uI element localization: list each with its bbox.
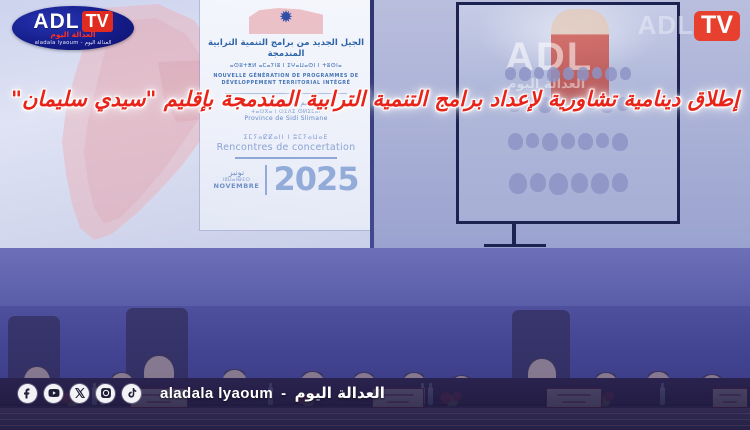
poster-date-separator: [265, 165, 267, 195]
logo-tv-badge: TV: [82, 11, 113, 32]
poster-province-french: Province de Sidi Slimane: [208, 115, 364, 122]
morocco-flag-icon: ✹: [249, 8, 323, 34]
logo-subtitle: aladala lyaoum - العدالة اليوم: [35, 40, 112, 46]
screen-foot: [484, 244, 546, 247]
poster-meeting-tifinagh: ⵉⵎⵢⴰⵇⵇⴰⵏⵏ ⵏ ⵓⵎⵢⴰⵡⴰⴹ: [208, 134, 364, 141]
banner-handle: aladala lyaoum - العدالة اليوم: [160, 384, 385, 402]
banner-handle-separator: -: [281, 385, 286, 402]
instagram-icon[interactable]: [96, 384, 115, 403]
corner-logo-adl-text: ADL: [638, 10, 694, 41]
facebook-icon[interactable]: [18, 384, 37, 403]
corner-logo-tv-badge: TV: [694, 11, 740, 41]
poster-meeting-french: Rencontres de concertation: [208, 142, 364, 153]
banner-handle-latin: aladala lyaoum: [160, 385, 273, 402]
x-twitter-icon[interactable]: [70, 384, 89, 403]
poster-year: 2025: [273, 165, 358, 194]
social-banner: aladala lyaoum - العدالة اليوم: [0, 378, 750, 408]
logo-arabic-text: العدالة اليوم: [50, 30, 95, 39]
banner-handle-arabic: العدالة اليوم: [295, 384, 385, 402]
channel-logo: ADL TV العدالة اليوم aladala lyaoum - ال…: [12, 6, 134, 50]
news-broadcast-graphic: ✹ الجيل الجديد من برامج التنمية الترابية…: [0, 0, 750, 430]
poster-date-block: نونبر ⵏⵓⵡⴰⵏⴱⵉⵔ NOVEMBRE 2025: [208, 165, 364, 195]
channel-logo-row: ADL TV: [33, 11, 112, 32]
poster-title-arabic: الجيل الجديد من برامج التنمية الترابية ا…: [208, 38, 364, 61]
event-poster-slide: ✹ الجيل الجديد من برامج التنمية الترابية…: [200, 0, 372, 230]
hall-wall: [0, 248, 750, 306]
top-photo-area: ✹ الجيل الجديد من برامج التنمية الترابية…: [0, 0, 750, 248]
bottom-strip: [0, 408, 750, 430]
tiktok-icon[interactable]: [122, 384, 141, 403]
corner-watermark-logo: ADL TV: [638, 10, 740, 41]
poster-title-tifinagh: ⴰⵙⵓⵜⴻⵍ ⴰⵎⴰⵢⵏⵓ ⵏ ⵉⵖⴰⵡⴰⵙⵏ ⵏ ⵜⵓⵙⵏⴰ: [208, 63, 364, 71]
poster-divider-2: [235, 157, 338, 159]
poster-title-french: NOUVELLE GÉNÉRATION DE PROGRAMMES DE DÉV…: [208, 73, 364, 87]
logo-adl-text: ADL: [33, 11, 79, 32]
poster-month-french: NOVEMBRE: [214, 183, 260, 190]
screen-stand: [512, 224, 516, 246]
news-headline: إطلاق دينامية تشاورية لإعداد برامج التنم…: [0, 86, 750, 112]
youtube-icon[interactable]: [44, 384, 63, 403]
